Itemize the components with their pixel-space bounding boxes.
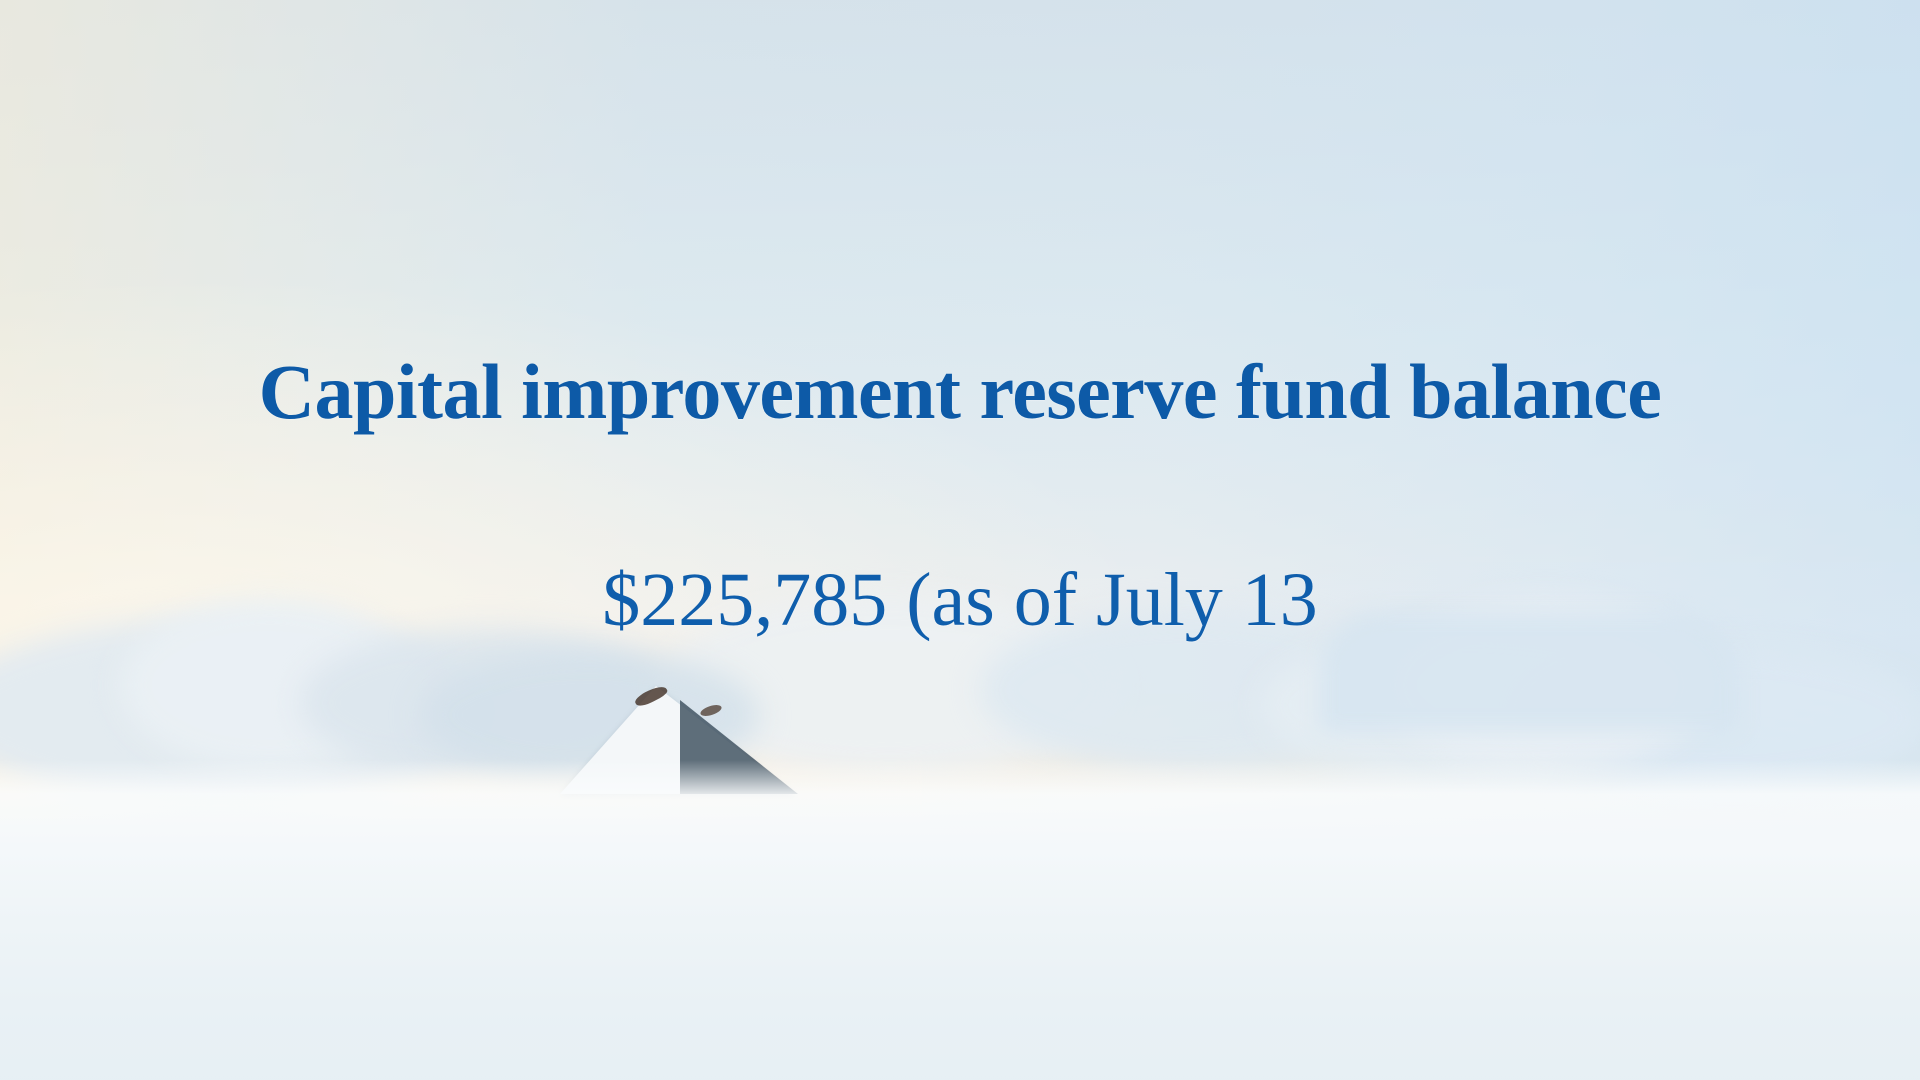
slide-heading: Capital improvement reserve fund balance bbox=[220, 347, 1700, 437]
slide-subheading: $225,785 (as of July 13 bbox=[220, 558, 1700, 643]
slide-canvas: Capital improvement reserve fund balance… bbox=[0, 0, 1920, 1080]
slide-content: Capital improvement reserve fund balance… bbox=[0, 0, 1920, 1080]
